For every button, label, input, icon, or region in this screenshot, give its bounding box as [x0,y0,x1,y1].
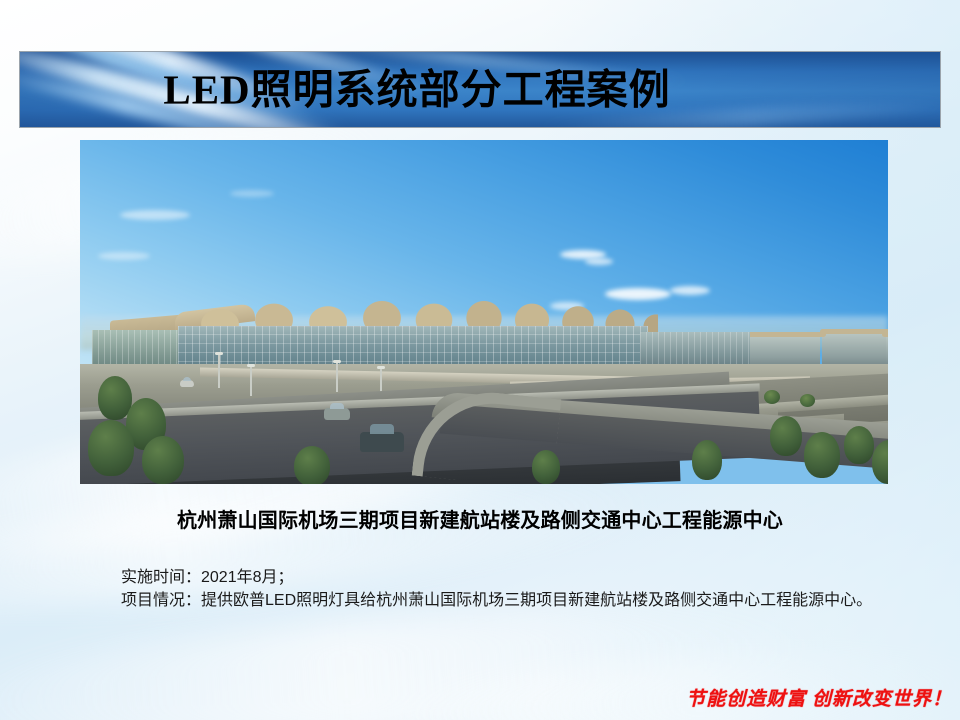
light-pole [336,362,338,392]
project-photo [80,140,888,484]
moving-car [324,408,350,420]
photo-cloud [670,286,710,295]
foreground-tree [88,420,134,476]
car-roof [330,403,345,409]
photo-cloud [230,190,274,197]
foreground-tree [142,436,184,484]
distant-building [822,333,888,366]
foreground-tree [770,416,802,456]
foreground-tree [532,450,560,484]
moving-car [360,432,404,452]
body-line-project-description: 项目情况：提供欧普LED照明灯具给杭州萧山国际机场三期项目新建航站楼及路侧交通中… [95,589,885,612]
photo-cloud [120,210,190,220]
slide-title: LED照明系统部分工程案例 [20,69,940,110]
foreground-tree [294,446,330,484]
title-banner: LED照明系统部分工程案例 [19,51,941,128]
distant-building [886,336,888,366]
landscape-bush [800,394,815,407]
body-text-block: 实施时间：2021年8月； 项目情况：提供欧普LED照明灯具给杭州萧山国际机场三… [95,566,885,612]
distant-building-roof [820,329,888,334]
slide-canvas: LED照明系统部分工程案例 [0,0,960,720]
photo-caption: 杭州萧山国际机场三期项目新建航站楼及路侧交通中心工程能源中心 [0,508,960,534]
terminal-facade-right [640,332,750,366]
body-line-implementation-date: 实施时间：2021年8月； [95,566,885,589]
foreground-tree [804,432,840,478]
car-roof [370,424,395,434]
landscape-bush [764,390,780,404]
distant-building-roof [882,332,888,337]
foreground-tree [844,426,874,464]
footer-slogan: 节能创造财富 创新改变世界！ [686,688,952,712]
foreground-tree [692,440,722,480]
distant-building [740,336,820,366]
photo-cloud [585,258,613,265]
light-pole [218,354,220,388]
moving-car [180,380,194,387]
photo-cloud [98,252,150,260]
car-roof [183,377,191,381]
light-pole [250,366,252,396]
